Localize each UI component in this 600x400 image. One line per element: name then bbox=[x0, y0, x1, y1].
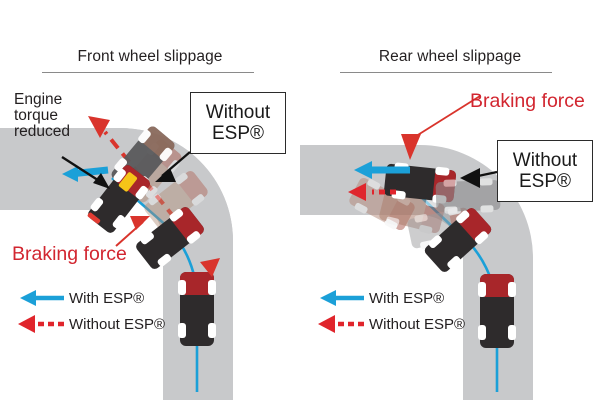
legend-arrow-dashed-red-rear bbox=[314, 315, 366, 333]
callout-line2-rear: ESP® bbox=[519, 171, 571, 192]
legend-front: With ESP® Without ESP® bbox=[14, 285, 165, 337]
legend-label-with-esp-front: With ESP® bbox=[69, 290, 144, 307]
callout-without-esp-front: Without ESP® bbox=[190, 92, 286, 154]
legend-arrow-solid-blue-rear bbox=[314, 289, 366, 307]
road-scene-front bbox=[0, 0, 300, 400]
callout-line1-front: Without bbox=[206, 102, 270, 123]
braking-force-label-rear: Braking force bbox=[470, 90, 585, 113]
legend-arrow-dashed-red-front bbox=[14, 315, 66, 333]
engine-label-line3: reduced bbox=[14, 124, 70, 140]
legend-arrow-solid-blue-front bbox=[14, 289, 66, 307]
car-ghost-right-rear bbox=[435, 178, 500, 214]
engine-label-line2: torque bbox=[14, 108, 70, 124]
legend-label-with-esp-rear: With ESP® bbox=[369, 290, 444, 307]
legend-item-with-esp-front: With ESP® bbox=[14, 285, 165, 311]
braking-force-label-front: Braking force bbox=[12, 243, 127, 266]
callout-line2-front: ESP® bbox=[212, 123, 264, 144]
legend-item-without-esp-front: Without ESP® bbox=[14, 311, 165, 337]
car-bottom-rear bbox=[478, 274, 516, 348]
callout-line1-rear: Without bbox=[513, 150, 577, 171]
legend-rear: With ESP® Without ESP® bbox=[314, 285, 465, 337]
car-bottom-front bbox=[178, 272, 216, 346]
esp-diagram: Front wheel slippage bbox=[0, 0, 600, 400]
legend-item-without-esp-rear: Without ESP® bbox=[314, 311, 465, 337]
callout-without-esp-rear: Without ESP® bbox=[497, 140, 593, 202]
panel-rear-wheel-slippage: Rear wheel slippage bbox=[300, 0, 600, 400]
legend-label-without-esp-front: Without ESP® bbox=[69, 316, 165, 333]
legend-label-without-esp-rear: Without ESP® bbox=[369, 316, 465, 333]
legend-item-with-esp-rear: With ESP® bbox=[314, 285, 465, 311]
panel-front-wheel-slippage: Front wheel slippage bbox=[0, 0, 300, 400]
engine-label-line1: Engine bbox=[14, 92, 70, 108]
engine-torque-label-front: Engine torque reduced bbox=[14, 92, 70, 139]
